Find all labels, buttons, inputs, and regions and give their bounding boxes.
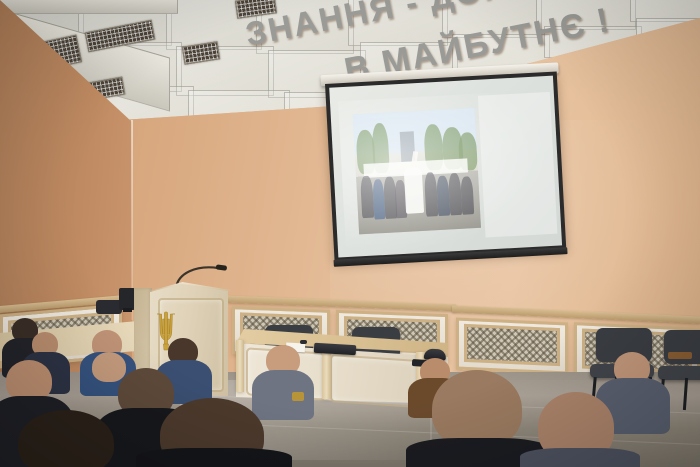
object-on-chair — [668, 352, 692, 359]
audience-head — [92, 352, 126, 382]
audience-head — [432, 370, 522, 448]
ceiling-bulkhead — [0, 0, 178, 14]
projection-screen — [325, 71, 567, 271]
radiator-grille — [464, 324, 560, 366]
lecture-hall-photo: ЗНАННЯ - ДОРОГА В МАЙБУТНЄ ! — [0, 0, 700, 467]
table-pilaster — [236, 340, 244, 392]
audience-head — [18, 410, 114, 467]
uniform-insignia — [292, 392, 304, 401]
audience-body — [520, 448, 640, 467]
screen-surface — [329, 76, 562, 258]
control-monitor — [119, 288, 135, 310]
audience-body — [136, 448, 292, 467]
projector-hotspot — [338, 90, 556, 256]
table-panel-moulding — [330, 354, 418, 408]
monitor-stand — [123, 308, 132, 312]
small-object — [300, 340, 307, 344]
audience-body-uniform — [252, 370, 314, 420]
